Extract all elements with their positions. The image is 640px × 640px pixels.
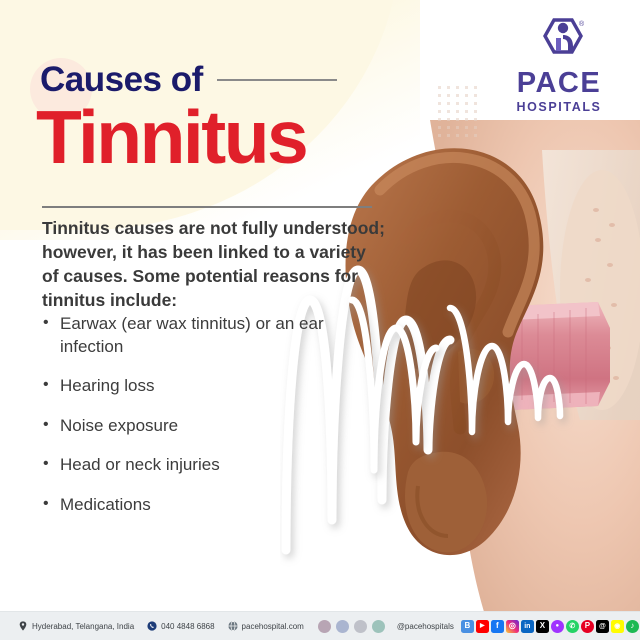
youtube-icon[interactable]: ▶	[476, 620, 489, 633]
map-pin-icon	[18, 621, 28, 631]
instagram-icon[interactable]: ◎	[506, 620, 519, 633]
footer-phone-text: 040 4848 6868	[161, 622, 214, 631]
title-divider	[42, 206, 372, 208]
phone-icon	[147, 621, 157, 631]
social-icons: B ▶ f ◎ in X ● ✆ P @ ◉ ♪	[454, 620, 639, 633]
kicker-row: Causes of	[40, 62, 337, 97]
accreditation-badge-3	[354, 620, 367, 633]
footer-website-text: pacehospital.com	[242, 622, 304, 631]
causes-list: Earwax (ear wax tinnitus) or an ear infe…	[42, 313, 342, 534]
list-item: Hearing loss	[42, 375, 342, 398]
x-twitter-icon[interactable]: X	[536, 620, 549, 633]
footer-location: Hyderabad, Telangana, India	[18, 621, 134, 631]
threads-icon[interactable]: @	[596, 620, 609, 633]
footer-phone[interactable]: 040 4848 6868	[147, 621, 214, 631]
accreditation-badge-4	[372, 620, 385, 633]
list-item: Head or neck injuries	[42, 454, 342, 477]
brand-logo[interactable]: ® PACE HOSPITALS	[500, 18, 618, 114]
spotify-icon[interactable]: ♪	[626, 620, 639, 633]
dot-grid-decoration	[438, 86, 484, 138]
accreditation-badge-1	[318, 620, 331, 633]
infographic-poster: ® PACE HOSPITALS Causes of Tinnitus Tinn…	[0, 0, 640, 640]
messenger-icon[interactable]: ●	[551, 620, 564, 633]
list-item: Medications	[42, 494, 342, 517]
list-item: Noise exposure	[42, 415, 342, 438]
hexagon-person-icon: ®	[500, 18, 618, 66]
footer-bar: Hyderabad, Telangana, India 040 4848 686…	[0, 611, 640, 640]
kicker-text: Causes of	[40, 62, 203, 97]
snapchat-icon[interactable]: ◉	[611, 620, 624, 633]
facebook-icon[interactable]: f	[491, 620, 504, 633]
accreditation-badge-2	[336, 620, 349, 633]
registered-mark: ®	[579, 20, 585, 28]
linkedin-icon[interactable]: in	[521, 620, 534, 633]
kicker-rule	[217, 79, 337, 81]
list-item: Earwax (ear wax tinnitus) or an ear infe…	[42, 313, 342, 358]
footer-website[interactable]: pacehospital.com	[228, 621, 304, 631]
pinterest-icon[interactable]: P	[581, 620, 594, 633]
brand-subtitle: HOSPITALS	[500, 101, 618, 114]
globe-icon	[228, 621, 238, 631]
footer-location-text: Hyderabad, Telangana, India	[32, 622, 134, 631]
bluesky-icon[interactable]: B	[461, 620, 474, 633]
accreditation-badges	[304, 620, 385, 633]
social-handle: @pacehospitals	[385, 622, 454, 631]
brand-name: PACE	[500, 69, 618, 98]
footer-contact-group: Hyderabad, Telangana, India 040 4848 686…	[0, 621, 304, 631]
intro-paragraph: Tinnitus causes are not fully understood…	[42, 216, 387, 313]
page-title: Tinnitus	[36, 100, 306, 175]
whatsapp-icon[interactable]: ✆	[566, 620, 579, 633]
